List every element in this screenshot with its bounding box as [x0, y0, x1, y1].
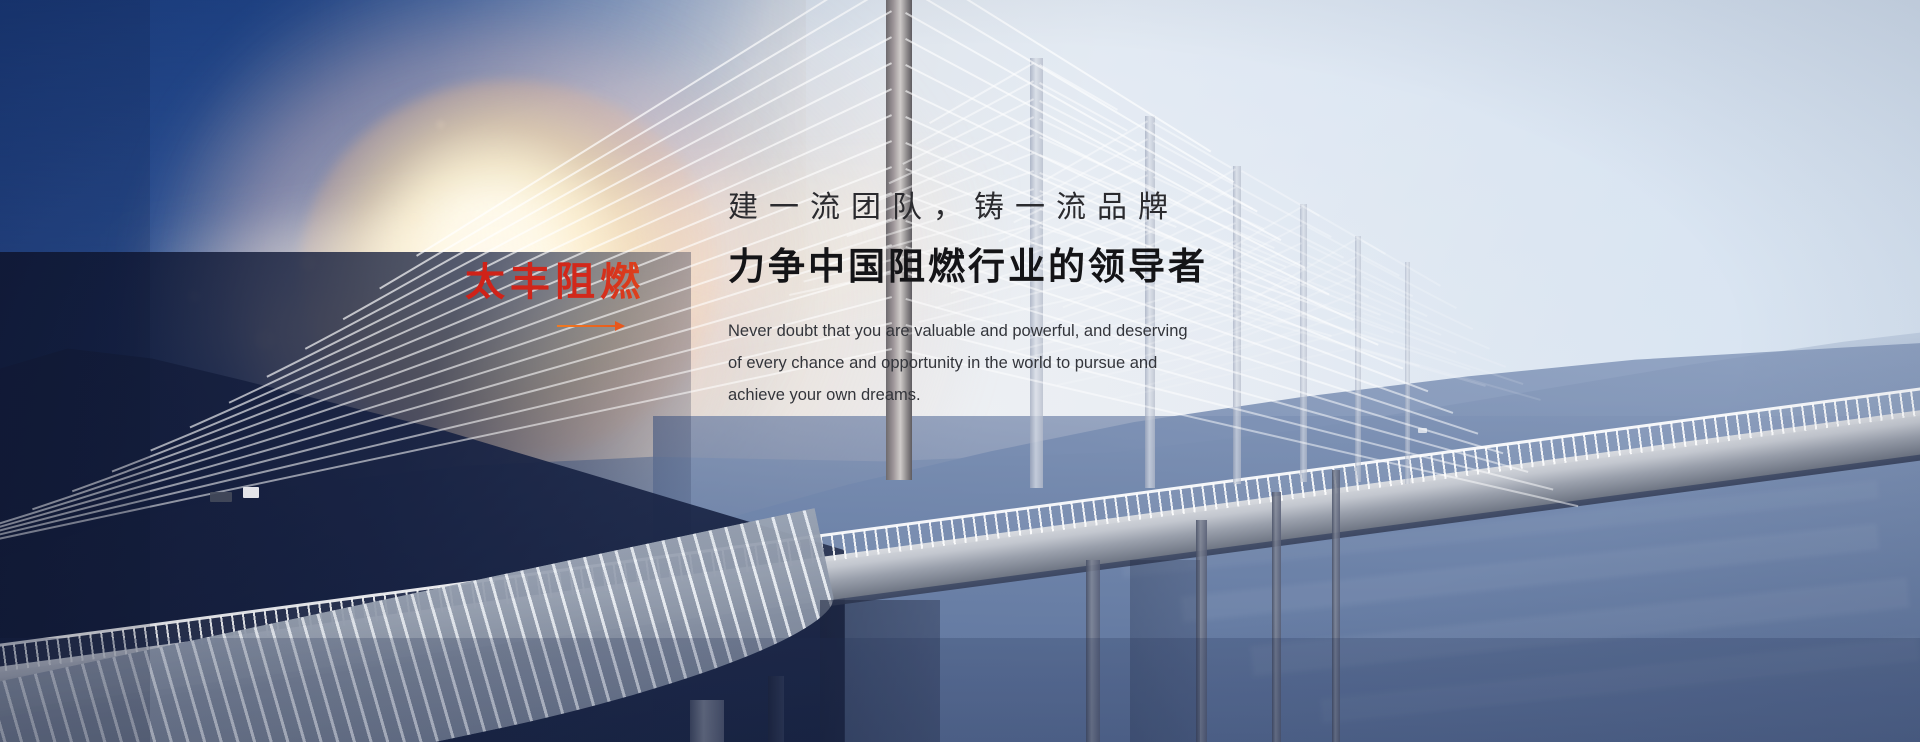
hero-banner: 太丰阻燃 建一流团队，铸一流品牌 力争中国阻燃行业的领导者 Never doub…: [0, 0, 1920, 742]
tagline-line: Never doubt that you are valuable and po…: [728, 315, 1198, 347]
headline-title: 力争中国阻燃行业的领导者: [728, 243, 1428, 291]
brand-logo[interactable]: 太丰阻燃: [465, 262, 705, 331]
brand-logo-text: 太丰阻燃: [465, 262, 705, 302]
headline-block: 建一流团队，铸一流品牌 力争中国阻燃行业的领导者 Never doubt tha…: [728, 188, 1428, 411]
tagline-line: achieve your own dreams.: [728, 379, 1198, 411]
arrow-right-icon: [557, 321, 625, 331]
arrow-shaft: [557, 325, 619, 327]
banner-content: 太丰阻燃 建一流团队，铸一流品牌 力争中国阻燃行业的领导者 Never doub…: [0, 0, 1920, 742]
tagline-paragraph: Never doubt that you are valuable and po…: [728, 315, 1198, 412]
headline-subtitle: 建一流团队，铸一流品牌: [728, 188, 1428, 229]
tagline-line: of every chance and opportunity in the w…: [728, 347, 1198, 379]
arrow-head: [615, 321, 625, 331]
